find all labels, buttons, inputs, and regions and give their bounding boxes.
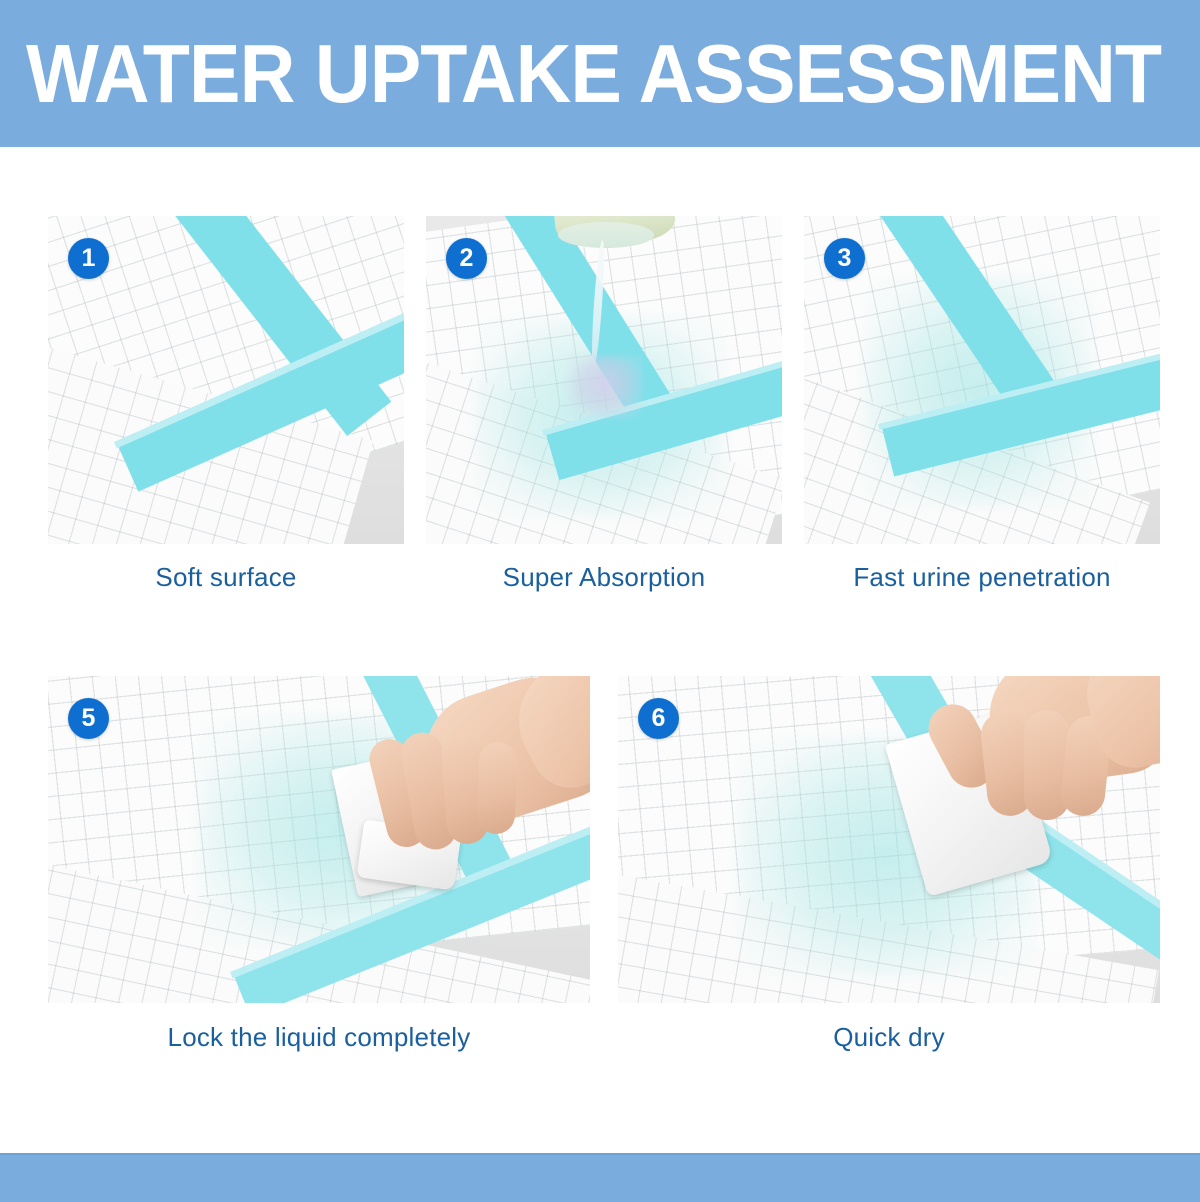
- caption-cell-5: Lock the liquid completely: [48, 1014, 590, 1060]
- step-badge-1: 1: [68, 238, 109, 279]
- steps-row-top: 1 2 3: [48, 216, 1160, 544]
- liquid-splash-2: [568, 356, 642, 418]
- caption-cell-2: Super Absorption: [426, 554, 782, 600]
- step-badge-5: 5: [68, 698, 109, 739]
- step-badge-6: 6: [638, 698, 679, 739]
- step-badge-2: 2: [446, 238, 487, 279]
- step-panel-3[interactable]: 3: [804, 216, 1160, 544]
- page-title: WATER UPTAKE ASSESSMENT: [0, 32, 1161, 115]
- footer-banner: [0, 1153, 1200, 1202]
- step-panel-6[interactable]: 6: [618, 676, 1160, 1003]
- finger-little-5: [476, 741, 517, 834]
- caption-cell-1: Soft surface: [48, 554, 404, 600]
- steps-row-bottom: 5 6: [48, 676, 1160, 1003]
- step-panel-5[interactable]: 5: [48, 676, 590, 1003]
- step-caption-3: Fast urine penetration: [853, 562, 1110, 593]
- step-caption-5: Lock the liquid completely: [168, 1022, 471, 1053]
- cup-liquid-2: [558, 222, 654, 248]
- step-panel-1[interactable]: 1: [48, 216, 404, 544]
- caption-cell-6: Quick dry: [618, 1014, 1160, 1060]
- captions-row-bottom: Lock the liquid completely Quick dry: [48, 1014, 1160, 1060]
- step-caption-1: Soft surface: [155, 562, 296, 593]
- step-caption-2: Super Absorption: [503, 562, 706, 593]
- step-caption-6: Quick dry: [833, 1022, 945, 1053]
- step-badge-3: 3: [824, 238, 865, 279]
- step-panel-2[interactable]: 2: [426, 216, 782, 544]
- header-banner: WATER UPTAKE ASSESSMENT: [0, 0, 1200, 147]
- captions-row-top: Soft surface Super Absorption Fast urine…: [48, 554, 1160, 600]
- caption-cell-3: Fast urine penetration: [804, 554, 1160, 600]
